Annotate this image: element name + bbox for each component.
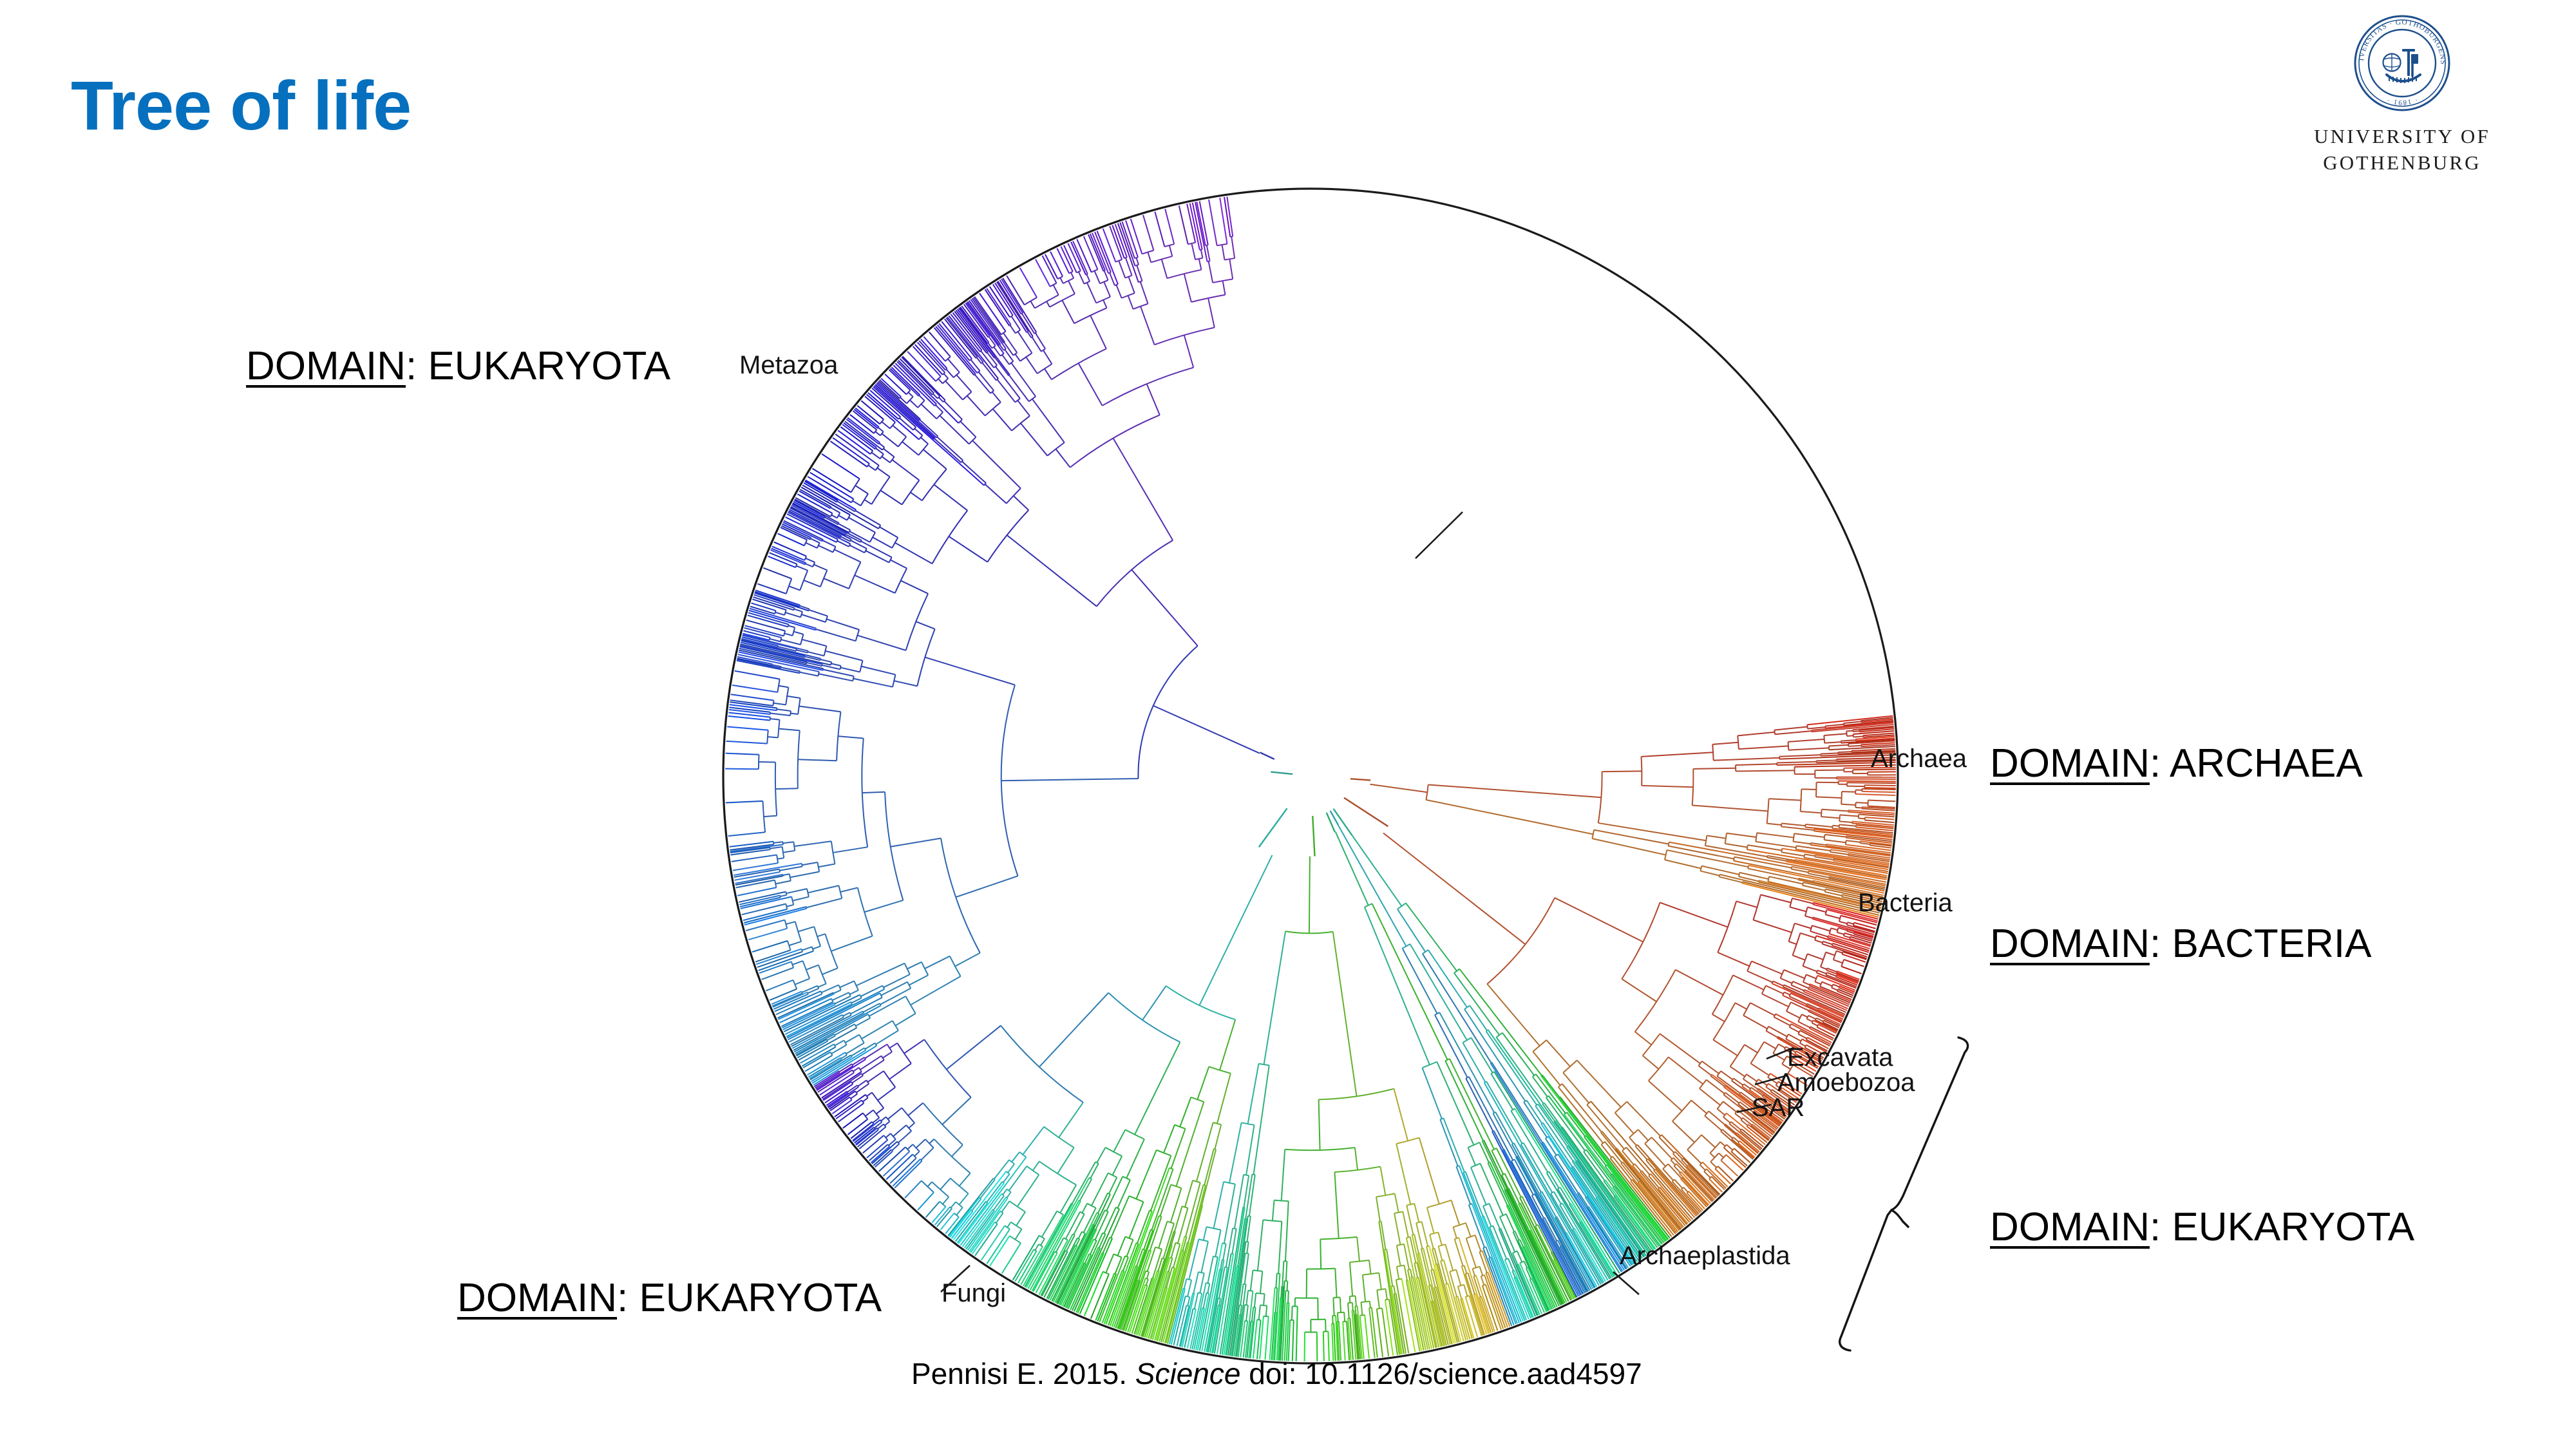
tree-of-life-figure: Metazoa Archaea Bacteria Excavata Amoebo… [692, 177, 1922, 1375]
university-logo: UNIVERSITAS · GOTHOBURGENSIS · 1891 · UN… [2296, 12, 2508, 176]
tree-branches [725, 196, 1896, 1361]
clade-label-fungi: Fungi [942, 1280, 1006, 1306]
annotation-underlined-word: DOMAIN [246, 344, 406, 388]
annotation-rest: : EUKARYOTA [406, 344, 670, 388]
logo-wordmark-line-2: GOTHENBURG [2296, 150, 2508, 176]
clade-label-metazoa: Metazoa [739, 352, 838, 378]
citation-suffix: doi: 10.1126/science.aad4597 [1240, 1357, 1642, 1390]
clade-label-archaeplastida: Archaeplastida [1620, 1243, 1790, 1269]
annotation-rest: : ARCHAEA [2150, 741, 2363, 786]
logo-wordmark: UNIVERSITY OF GOTHENBURG [2296, 124, 2508, 176]
annotation-domain-eukaryota-right: DOMAIN: EUKARYOTA [1990, 1207, 2414, 1247]
annotation-rest: : BACTERIA [2150, 922, 2372, 966]
eukaryota-grouping-brace [1832, 1034, 2000, 1356]
page-title: Tree of life [71, 71, 411, 140]
citation-journal: Science [1135, 1357, 1241, 1390]
university-seal-icon: UNIVERSITAS · GOTHOBURGENSIS · 1891 · [2351, 12, 2454, 115]
annotation-rest: : EUKARYOTA [617, 1276, 882, 1320]
clade-label-bacteria: Bacteria [1858, 890, 1953, 916]
logo-wordmark-line-1: UNIVERSITY OF [2314, 125, 2490, 147]
annotation-rest: : EUKARYOTA [2150, 1205, 2414, 1249]
clade-label-archaea: Archaea [1871, 746, 1967, 772]
annotation-underlined-word: DOMAIN [1990, 741, 2150, 786]
annotation-underlined-word: DOMAIN [1990, 1205, 2150, 1249]
annotation-underlined-word: DOMAIN [457, 1276, 617, 1320]
annotation-domain-eukaryota-left: DOMAIN: EUKARYOTA [246, 346, 670, 386]
clade-label-sar: SAR [1752, 1095, 1804, 1121]
citation-prefix: Pennisi E. 2015. [911, 1357, 1135, 1390]
annotation-domain-eukaryota-bottom: DOMAIN: EUKARYOTA [457, 1278, 882, 1318]
radial-dendrogram [692, 177, 1922, 1375]
annotation-domain-bacteria: DOMAIN: BACTERIA [1990, 924, 2372, 964]
annotation-underlined-word: DOMAIN [1990, 922, 2150, 966]
annotation-domain-archaea: DOMAIN: ARCHAEA [1990, 744, 2363, 784]
citation: Pennisi E. 2015. Science doi: 10.1126/sc… [911, 1359, 1642, 1388]
